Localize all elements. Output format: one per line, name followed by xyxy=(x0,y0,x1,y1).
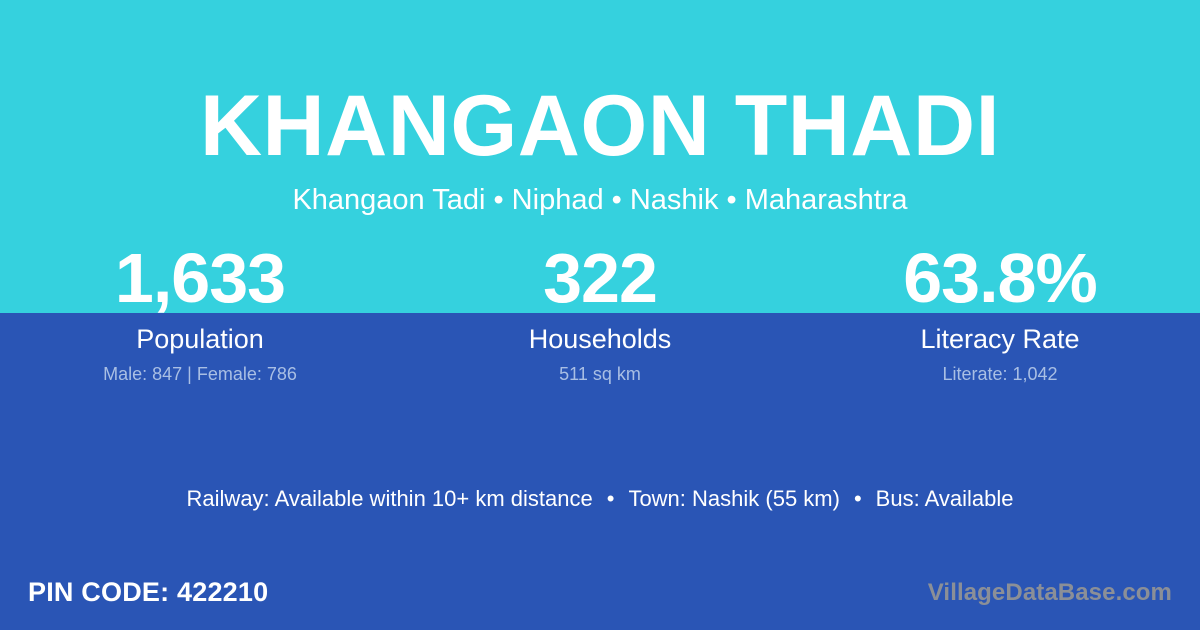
card-footer: PIN CODE: 422210 VillageDataBase.com xyxy=(0,572,1200,630)
village-info-card: KHANGAON THADI Khangaon Tadi • Niphad • … xyxy=(0,0,1200,630)
amenity-town: Town: Nashik (55 km) xyxy=(628,486,840,511)
stat-population: 1,633 Population Male: 847 | Female: 786 xyxy=(0,243,400,385)
stat-label-literacy-rate: Literacy Rate xyxy=(800,324,1200,354)
stat-sub-population: Male: 847 | Female: 786 xyxy=(0,363,400,385)
page-title: KHANGAON THADI xyxy=(0,78,1200,174)
stat-value-literacy-rate: 63.8% xyxy=(800,243,1200,313)
amenities-bar: Railway: Available within 10+ km distanc… xyxy=(0,483,1200,515)
amenity-separator-icon-2: • xyxy=(840,483,876,515)
stat-literacy-rate: 63.8% Literacy Rate Literate: 1,042 xyxy=(800,243,1200,385)
stats-row: 1,633 Population Male: 847 | Female: 786… xyxy=(0,243,1200,385)
stat-value-households: 322 xyxy=(400,243,800,313)
stat-households: 322 Households 511 sq km xyxy=(400,243,800,385)
amenity-railway: Railway: Available within 10+ km distanc… xyxy=(187,486,593,511)
stat-sub-literacy-rate: Literate: 1,042 xyxy=(800,363,1200,385)
pin-code: PIN CODE: 422210 xyxy=(28,575,268,609)
stat-label-population: Population xyxy=(0,324,400,354)
amenity-separator-icon-1: • xyxy=(593,483,629,515)
amenity-bus: Bus: Available xyxy=(876,486,1014,511)
stat-label-households: Households xyxy=(400,324,800,354)
location-breadcrumb: Khangaon Tadi • Niphad • Nashik • Mahara… xyxy=(0,183,1200,217)
brand-watermark: VillageDataBase.com xyxy=(928,578,1172,608)
stat-value-population: 1,633 xyxy=(0,243,400,313)
stat-sub-households: 511 sq km xyxy=(400,363,800,385)
